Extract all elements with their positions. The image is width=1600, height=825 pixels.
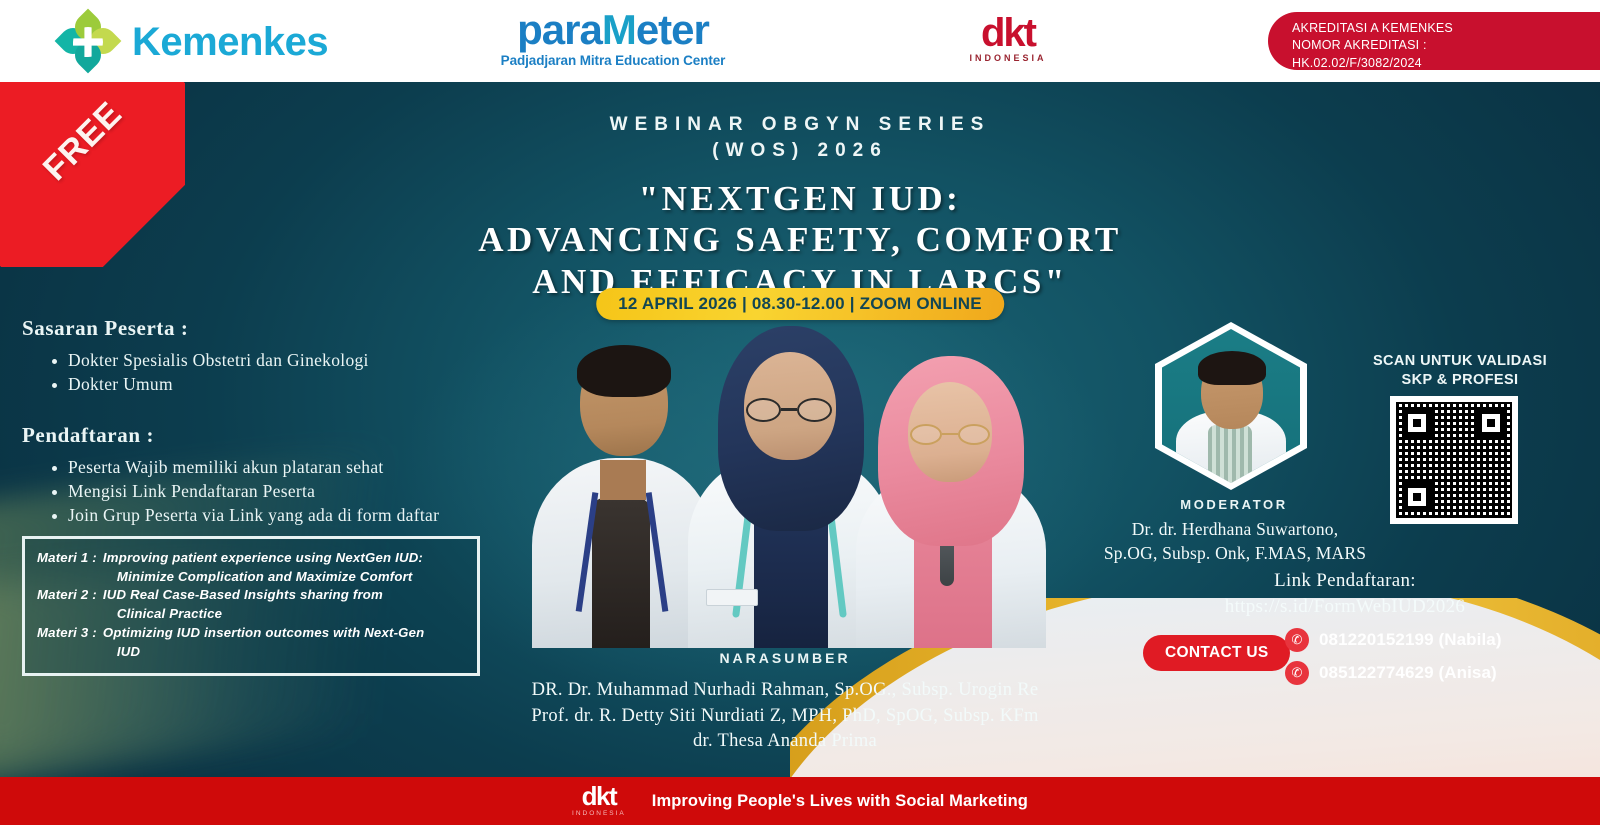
qr-code[interactable] xyxy=(1390,396,1518,524)
speakers-label: NARASUMBER xyxy=(520,650,1050,666)
materi-key: Materi 2 : xyxy=(37,586,103,623)
audience-heading: Sasaran Peserta : xyxy=(22,316,522,341)
kemenkes-logo: Kemenkes xyxy=(60,14,328,70)
series-subtitle: WEBINAR OBGYN SERIES (WOS) 2026 xyxy=(0,112,1600,164)
kemenkes-logo-text: Kemenkes xyxy=(132,20,328,65)
page-title: "NEXTGEN IUD: ADVANCING SAFETY, COMFORT … xyxy=(0,178,1600,302)
moderator-name-line-2: Sp.OG, Subsp. Onk, F.MAS, MARS xyxy=(1080,542,1390,566)
speaker-name: dr. Thesa Ananda Prima xyxy=(420,729,1150,755)
qr-finder-icon xyxy=(1402,408,1432,438)
contact-us-button[interactable]: CONTACT US xyxy=(1143,635,1290,671)
accreditation-line-1: AKREDITASI A KEMENKES xyxy=(1292,20,1600,37)
qr-finder-icon xyxy=(1476,408,1506,438)
materi-row: Materi 3 : Optimizing IUD insertion outc… xyxy=(37,624,465,661)
speakers-names: DR. Dr. Muhammad Nurhadi Rahman, Sp.OG.,… xyxy=(420,678,1150,755)
scan-instruction-label: SCAN UNTUK VALIDASI SKP & PROFESI xyxy=(1370,352,1550,390)
parameter-word-b: eter xyxy=(636,6,709,53)
accreditation-line-3: HK.02.02/F/3082/2024 xyxy=(1292,55,1600,72)
event-date-badge: 12 APRIL 2026 | 08.30-12.00 | ZOOM ONLIN… xyxy=(596,288,1004,320)
materi-line-1: Improving patient experience using NextG… xyxy=(103,550,423,565)
contact-phone-number: 081220152199 (Nabila) xyxy=(1319,630,1502,650)
footer-dkt-word: dkt xyxy=(572,785,626,808)
phone-icon: ✆ xyxy=(1285,628,1309,652)
title-line-1: "NEXTGEN IUD: xyxy=(0,178,1600,219)
materi-row: Materi 1 : Improving patient experience … xyxy=(37,549,465,586)
materi-key: Materi 3 : xyxy=(37,624,103,661)
footer-tagline: Improving People's Lives with Social Mar… xyxy=(652,792,1028,811)
parameter-logo-wordmark: paraMeter xyxy=(488,8,738,52)
registration-heading: Pendaftaran : xyxy=(22,423,522,448)
parameter-logo-subtitle: Padjadjaran Mitra Education Center xyxy=(488,53,738,68)
accreditation-badge: AKREDITASI A KEMENKES NOMOR AKREDITASI :… xyxy=(1268,12,1600,70)
moderator-name: Dr. dr. Herdhana Suwartono, Sp.OG, Subsp… xyxy=(1080,518,1390,565)
moderator-avatar xyxy=(1155,322,1307,490)
header-logo-bar: Kemenkes paraMeter Padjadjaran Mitra Edu… xyxy=(0,0,1600,82)
materi-line-2: Clinical Practice xyxy=(103,605,465,624)
materi-value: Optimizing IUD insertion outcomes with N… xyxy=(103,624,465,661)
contact-phone-number: 085122774629 (Anisa) xyxy=(1319,663,1497,683)
series-line-2: (WOS) 2026 xyxy=(0,138,1600,164)
accreditation-line-2: NOMOR AKREDITASI : xyxy=(1292,37,1600,54)
scan-line-1: SCAN UNTUK VALIDASI xyxy=(1370,352,1550,371)
materi-row: Materi 2 : IUD Real Case-Based Insights … xyxy=(37,586,465,623)
speakers-photo-group xyxy=(520,330,1050,648)
registration-link-label: Link Pendaftaran: xyxy=(1130,568,1560,594)
list-item: Dokter Spesialis Obstetri dan Ginekologi xyxy=(52,349,522,373)
list-item[interactable]: ✆ 085122774629 (Anisa) xyxy=(1285,661,1502,685)
list-item: Join Grup Peserta via Link yang ada di f… xyxy=(52,504,522,528)
materi-line-1: Optimizing IUD insertion outcomes with N… xyxy=(103,625,425,640)
list-item[interactable]: ✆ 081220152199 (Nabila) xyxy=(1285,628,1502,652)
scan-line-2: SKP & PROFESI xyxy=(1370,371,1550,390)
speaker-photo-3 xyxy=(856,358,1046,648)
list-item: Mengisi Link Pendaftaran Peserta xyxy=(52,480,522,504)
footer-bar: dkt INDONESIA Improving People's Lives w… xyxy=(0,777,1600,825)
materi-key: Materi 1 : xyxy=(37,549,103,586)
moderator-label: MODERATOR xyxy=(1110,497,1358,512)
registration-list: Peserta Wajib memiliki akun plataran seh… xyxy=(22,456,522,528)
footer-dkt-subtitle: INDONESIA xyxy=(572,810,626,817)
webinar-poster: Kemenkes paraMeter Padjadjaran Mitra Edu… xyxy=(0,0,1600,825)
free-corner-ribbon: FREE xyxy=(0,82,185,267)
registration-link-block: Link Pendaftaran: https://s.id/FormWebIU… xyxy=(1130,568,1560,620)
parameter-word-a: para xyxy=(517,6,602,53)
materi-line-2: Minimize Complication and Maximize Comfo… xyxy=(103,568,465,587)
qr-finder-icon xyxy=(1402,482,1432,512)
dkt-logo-subtitle: INDONESIA xyxy=(963,53,1053,63)
speaker-name: DR. Dr. Muhammad Nurhadi Rahman, Sp.OG.,… xyxy=(420,678,1150,704)
dkt-logo: dkt INDONESIA xyxy=(963,14,1053,63)
list-item: Dokter Umum xyxy=(52,373,522,397)
footer-dkt-logo: dkt INDONESIA xyxy=(572,785,626,816)
materi-value: Improving patient experience using NextG… xyxy=(103,549,465,586)
materi-line-1: IUD Real Case-Based Insights sharing fro… xyxy=(103,587,383,602)
series-line-1: WEBINAR OBGYN SERIES xyxy=(0,112,1600,138)
dkt-logo-word: dkt xyxy=(963,14,1053,52)
speaker-name: Prof. dr. R. Detty Siti Nurdiati Z, MPH,… xyxy=(420,704,1150,730)
list-item: Peserta Wajib memiliki akun plataran seh… xyxy=(52,456,522,480)
materi-box: Materi 1 : Improving patient experience … xyxy=(22,536,480,676)
moderator-name-line-1: Dr. dr. Herdhana Suwartono, xyxy=(1080,518,1390,542)
parameter-leaf-icon: M xyxy=(602,6,636,53)
registration-link-url[interactable]: https://s.id/FormWebIUD2026 xyxy=(1130,594,1560,620)
contact-phone-list: ✆ 081220152199 (Nabila) ✆ 085122774629 (… xyxy=(1285,628,1502,694)
materi-line-2: IUD xyxy=(103,643,465,662)
kemenkes-flower-icon xyxy=(60,14,118,70)
title-line-2: ADVANCING SAFETY, COMFORT xyxy=(0,219,1600,260)
parameter-logo: paraMeter Padjadjaran Mitra Education Ce… xyxy=(488,8,738,68)
audience-list: Dokter Spesialis Obstetri dan Ginekologi… xyxy=(22,349,522,397)
phone-icon: ✆ xyxy=(1285,661,1309,685)
left-info-column: Sasaran Peserta : Dokter Spesialis Obste… xyxy=(22,316,522,528)
materi-value: IUD Real Case-Based Insights sharing fro… xyxy=(103,586,465,623)
